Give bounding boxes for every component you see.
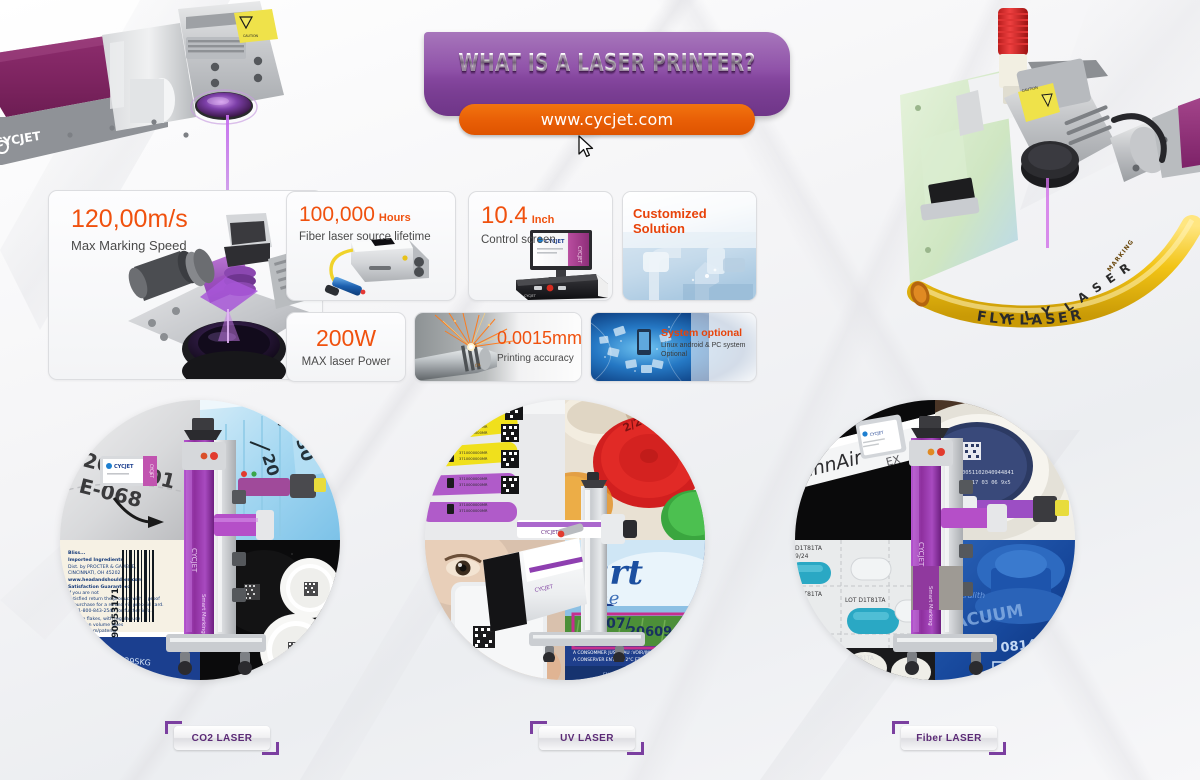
svg-text:M°00 2017 03 06 9x5: M°00 2017 03 06 9x5 (949, 480, 1011, 486)
svg-text:20609: 20609 (627, 625, 672, 640)
top-right-laser-machine: CAUTION FLY LASER F L Y L A S E R MARKIN… (900, 0, 1200, 420)
feature-screen-value: 10.4 (481, 204, 528, 228)
svg-text:D1T81TA: D1T81TA (795, 591, 823, 598)
svg-text:CYCJET: CYCJET (524, 294, 537, 298)
svg-text:3710000000MR: 3710000000MR (459, 483, 488, 487)
photo-blue-vacuum-part-marking: Ultralith VACUUM 0814 17 10~2 LOT (935, 540, 1075, 680)
svg-text:3710000000MR: 3710000000MR (459, 509, 488, 513)
photo-uv-laser-marked-phone-back (425, 540, 565, 680)
feature-card-custom[interactable]: Customized Solution (622, 191, 757, 301)
svg-text:23:07/: 23:07/ (581, 616, 632, 632)
website-url-button[interactable]: www.cycjet.com (459, 104, 755, 135)
page-title: WHAT IS A LASER PRINTER? (457, 48, 757, 77)
svg-text:www.pg.com/patents: www.pg.com/patents (68, 628, 117, 634)
photo-pharmaceutical-blister-pack-lot-code: D1T81TA 9/24 D1T81TA 0/24 LOT D1T81TA LO… (795, 540, 935, 680)
feature-card-accuracy[interactable]: CN 0.0015mm Printing accuracy (414, 312, 582, 382)
feature-power-value: 200W (287, 327, 405, 350)
feature-card-speed[interactable]: 120,00m/s Max Marking Speed (48, 190, 323, 380)
svg-text:01110051102040944841: 01110051102040944841 (949, 470, 1014, 476)
svg-text:LOT: LOT (813, 657, 825, 664)
svg-text:CYCJET: CYCJET (983, 508, 1001, 514)
svg-text:3710000000MR: 3710000000MR (459, 477, 488, 481)
svg-text:09/24: 09/24 (847, 663, 864, 670)
feature-card-system[interactable]: System optional Linux android & PC syste… (590, 312, 757, 382)
feature-hours-caption: Fiber laser source lifetime (299, 231, 431, 243)
svg-text:A CONSERVER ENTRE +2°C ET +6°C: A CONSERVER ENTRE +2°C ET +6°C MAX (573, 657, 665, 663)
label-uv-laser[interactable]: UV LASER (539, 726, 635, 750)
photo-date-code-marking-on-carton: 20XX.01 E-068 (60, 400, 200, 540)
feature-hours-value: 100,000 (299, 204, 375, 225)
photo-qr-coded-security-seal-tags: 3710000000MR3710000000MR 3710000000MR371… (425, 400, 565, 540)
svg-text:3710000000MR: 3710000000MR (459, 457, 488, 461)
feature-system-title: System optional (661, 327, 756, 339)
photo-qr-code-marked-metal-can-lid: 01110051102040944841 M°00 2017 03 06 9x5… (935, 400, 1075, 540)
feature-accuracy-caption: Printing accuracy (497, 353, 582, 364)
svg-text:Call 1-800-843-2543 for furthe: Call 1-800-843-2543 for further info. (68, 608, 152, 614)
svg-text:CN: CN (474, 362, 481, 368)
category-circle-co2[interactable]: 20XX.01 E-068 (60, 400, 340, 680)
corner-bracket-icon (892, 721, 909, 734)
photo-red-plastic-container-lid-marking: 2/2025 SP (565, 400, 705, 540)
laser-beam-right (1046, 178, 1049, 248)
photo-ennair-pipe-marking: ennAir EX CYCJET (795, 400, 935, 540)
svg-text:Ultralith: Ultralith (953, 591, 985, 600)
svg-text:3710000000MR: 3710000000MR (459, 451, 488, 455)
svg-text:Imported Ingredients: Imported Ingredients (68, 557, 123, 563)
label-co2-text: CO2 LASER (192, 733, 253, 744)
svg-text:3710000000MR: 3710000000MR (459, 503, 488, 507)
fiber-laser-source-photo (313, 234, 435, 296)
category-circle-fiber[interactable]: ennAir EX CYCJET (795, 400, 1075, 680)
svg-text:ème: ème (581, 588, 619, 609)
svg-text:LOT: LOT (993, 666, 1007, 674)
feature-screen-unit: Inch (532, 214, 555, 226)
infographic-canvas: CYCJET CAUTION (0, 0, 1200, 780)
feature-card-hours[interactable]: 100,000 Hours Fiber laser source lifetim… (286, 191, 456, 301)
photo-product-barcode-label: Bliss... Imported Ingredients Dist. by P… (60, 540, 200, 680)
svg-text:Bliss...: Bliss... (68, 550, 86, 556)
svg-text:LOT D1T81TA: LOT D1T81TA (845, 597, 886, 604)
svg-text:3710000000MR: 3710000000MR (459, 431, 488, 435)
feature-card-screen[interactable]: CYCJET CYCJET CYCJET 10.4 Inch Control s… (468, 191, 613, 301)
svg-text:A CONSOMMER JUSQU'AU :VOIR/IMA: A CONSOMMER JUSQU'AU :VOIR/IMAGE (573, 650, 659, 656)
svg-text:D1T81TA: D1T81TA (847, 655, 875, 662)
corner-bracket-icon (262, 742, 279, 755)
photo-blue-plastic-jerrycan-marking: 30 20 (200, 400, 340, 540)
category-circle-uv[interactable]: 3710000000MR3710000000MR 3710000000MR371… (425, 400, 705, 680)
label-fiber-laser[interactable]: Fiber LASER (901, 726, 997, 750)
svg-text:E02: E02 (813, 665, 825, 672)
svg-text:90953171: 90953171 (111, 588, 121, 638)
svg-text:3710000000MR: 3710000000MR (459, 425, 488, 429)
svg-text:CAUTION: CAUTION (243, 34, 259, 38)
photo-qr-code-on-bottle-caps (200, 540, 340, 680)
svg-text:EN 2 MINUTES...: EN 2 MINUTES... (603, 672, 639, 678)
svg-text:0/24: 0/24 (795, 599, 809, 606)
feature-custom-title: Customized Solution (633, 206, 756, 236)
photo-yogurt-package-expiry-date: gurt ème 23:07/ 20609 A CONSOMM (565, 540, 705, 680)
label-uv-text: UV LASER (560, 733, 614, 744)
arrow-cursor (578, 135, 596, 161)
corner-bracket-icon (627, 742, 644, 755)
feature-accuracy-value: 0.0015mm (497, 329, 582, 347)
feature-speed-value: 120,00m/s (71, 207, 188, 232)
website-url-label: www.cycjet.com (541, 110, 674, 129)
svg-text:9/24: 9/24 (795, 553, 809, 560)
svg-text:CINCINNATI, OH 45202: CINCINNATI, OH 45202 (68, 570, 121, 576)
laser-lens (197, 93, 251, 118)
feature-card-power[interactable]: 200W MAX laser Power (286, 312, 406, 382)
feature-power-caption: MAX laser Power (287, 356, 405, 368)
svg-text:If you are not: If you are not (68, 590, 99, 596)
feature-system-caption: Linux android & PC system Optional (661, 341, 756, 360)
feature-screen-caption: Control screen (481, 234, 556, 246)
feature-speed-caption: Max Marking Speed (71, 238, 188, 253)
feature-hours-unit: Hours (379, 212, 411, 224)
corner-bracket-icon (989, 742, 1006, 755)
corner-bracket-icon (530, 721, 547, 734)
label-fiber-text: Fiber LASER (916, 733, 982, 744)
label-co2-laser[interactable]: CO2 LASER (174, 726, 270, 750)
svg-text:CYCJET: CYCJET (576, 246, 582, 264)
svg-text:gurt: gurt (565, 553, 643, 593)
corner-bracket-icon (165, 721, 182, 734)
svg-text:D1T81TA: D1T81TA (795, 545, 823, 552)
